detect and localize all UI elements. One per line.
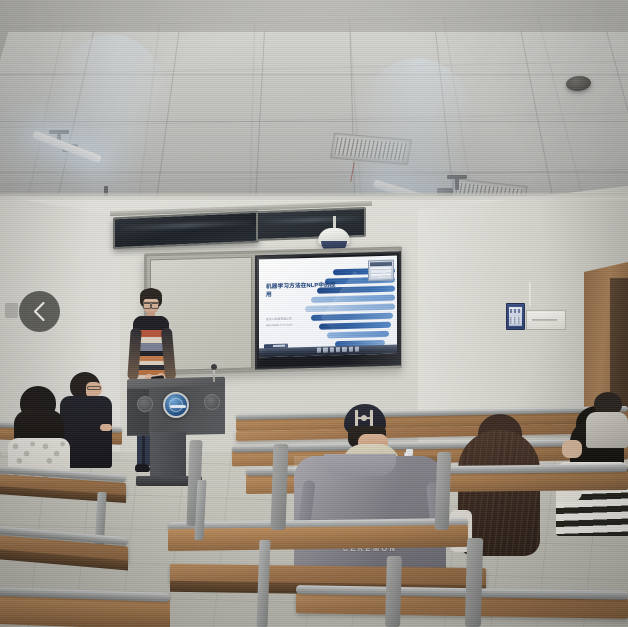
student-torso bbox=[586, 412, 628, 448]
taskbar-icon-4[interactable] bbox=[336, 348, 340, 352]
presenter-glasses bbox=[143, 302, 159, 306]
slide-content: 机器学习方法在NLP中的应用 武汉××科技有限公司 http://www.×××… bbox=[259, 256, 397, 358]
whiteboard-frame: 机器学习方法在NLP中的应用 武汉××科技有限公司 http://www.×××… bbox=[144, 246, 402, 375]
bench-back-front bbox=[168, 525, 468, 551]
taskbar-icon-1[interactable] bbox=[317, 348, 321, 352]
tie-fighter-icon bbox=[353, 409, 375, 427]
presenter-shoe-left bbox=[135, 464, 150, 472]
wall-conduit bbox=[529, 282, 532, 306]
taskbar-icon-7[interactable] bbox=[355, 347, 359, 351]
slide-title: 机器学习方法在NLP中的应用 bbox=[266, 281, 338, 299]
student-face-profile bbox=[562, 440, 582, 458]
light-mount-right-b bbox=[447, 175, 467, 179]
podium-column bbox=[150, 432, 186, 480]
hoodie-hood bbox=[324, 454, 396, 476]
previous-image-button[interactable] bbox=[19, 291, 60, 332]
seat-armrest-right bbox=[435, 452, 452, 530]
overhead-dark-panel-right bbox=[256, 207, 366, 241]
taskbar-icon-6[interactable] bbox=[349, 347, 353, 351]
wall-ceiling-trim bbox=[0, 193, 628, 200]
taskbar-icon-group[interactable] bbox=[317, 347, 359, 352]
chevron-left-icon bbox=[31, 301, 48, 322]
light-mount-left-b bbox=[49, 130, 69, 134]
slide-thumbnail-window bbox=[368, 260, 394, 282]
viewer-edge-tab[interactable] bbox=[5, 303, 18, 318]
taskbar-icon-3[interactable] bbox=[330, 348, 334, 352]
presenter-hair-front bbox=[140, 289, 162, 299]
electrical-distribution-box[interactable] bbox=[526, 310, 566, 330]
student-glasses bbox=[87, 386, 101, 390]
student-far-right-rear bbox=[586, 392, 628, 446]
photo-viewer-stage: 机器学习方法在NLP中的应用 武汉××科技有限公司 http://www.×××… bbox=[0, 0, 628, 627]
overhead-dark-panel-left bbox=[113, 211, 259, 250]
microphone-head-icon bbox=[211, 364, 217, 370]
taskbar-icon-5[interactable] bbox=[342, 347, 346, 351]
student-hoodie: OPENIE CEREMON bbox=[294, 456, 446, 574]
student-hand bbox=[100, 424, 112, 431]
presentation-display[interactable]: 机器学习方法在NLP中的应用 武汉××科技有限公司 http://www.×××… bbox=[255, 251, 401, 369]
seat-armrest-center bbox=[270, 444, 288, 530]
university-crest-emblem bbox=[163, 392, 189, 418]
podium-right-medallion bbox=[204, 394, 220, 410]
gooseneck-microphone bbox=[213, 368, 215, 382]
fire-alarm-panel[interactable] bbox=[506, 303, 525, 330]
seat-armrest-frontmost bbox=[465, 538, 483, 627]
podium-left-medallion bbox=[137, 396, 153, 412]
seat-armrest-front-left bbox=[385, 556, 402, 627]
taskbar-icon-2[interactable] bbox=[323, 348, 327, 352]
